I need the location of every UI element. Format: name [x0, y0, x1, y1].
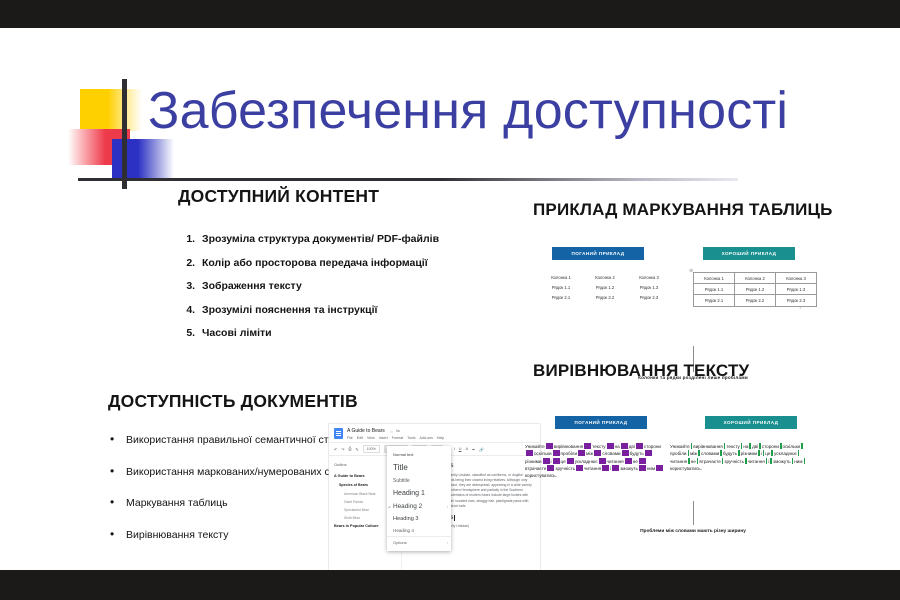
- table-cell: Рядок 1.2: [735, 284, 776, 295]
- caption-leader-line: [693, 501, 694, 525]
- table-header-cell: Колонка 2: [583, 272, 627, 282]
- word-gap-marker: [771, 450, 773, 456]
- gdocs-doc-title: A Guide to Bears: [347, 428, 385, 434]
- word-gap-marker: [698, 450, 700, 456]
- chevron-right-icon: ›: [447, 505, 448, 509]
- alignment-good-badge-wrap: ХОРОШИЙ ПРИКЛАД: [705, 411, 797, 429]
- word-gap-marker: [547, 465, 554, 471]
- word-gap-marker: [697, 458, 699, 464]
- table-cell: Рядок 2.1: [539, 292, 583, 302]
- dropdown-item-heading-1[interactable]: Heading 1: [387, 487, 451, 500]
- menu-item-view[interactable]: View: [367, 436, 375, 440]
- paragraph-bad-justified: Уникайтевирівнюваннятекстунадвісторониос…: [525, 443, 665, 479]
- word-gap-marker: [599, 458, 606, 464]
- table-bad-example: Колонка 1 Колонка 2 Колонка 3 Рядок 1.1 …: [539, 272, 671, 303]
- table-header-cell: Колонка 3: [627, 272, 671, 282]
- table-row: Рядок 2.1 Рядок 2.2 Рядок 2.3: [539, 292, 671, 302]
- slide-canvas: Забезпечення доступності ДОСТУПНИЙ КОНТЕ…: [0, 28, 900, 570]
- undo-icon[interactable]: ↶: [334, 447, 337, 452]
- table-examples-row: ПОГАНИЙ ПРИКЛАД ХОРОШИЙ ПРИКЛАД Колонка …: [533, 242, 853, 314]
- dropdown-item-subtitle[interactable]: Subtitle: [387, 475, 451, 487]
- word-gap-marker: [749, 443, 751, 449]
- gdocs-menubar: File Edit View Insert Format Tools Add-o…: [347, 436, 444, 440]
- text-color-icon[interactable]: A: [466, 447, 469, 451]
- word-gap-marker: [639, 458, 646, 464]
- alignment-bad-badge-wrap: ПОГАНИЙ ПРИКЛАД: [555, 411, 647, 429]
- word-gap-marker: [584, 443, 591, 449]
- table-cell: Рядок 1.1: [539, 282, 583, 292]
- word-gap-marker: [567, 458, 574, 464]
- document-accessibility-heading: ДОСТУПНІСТЬ ДОКУМЕНТІВ: [108, 391, 528, 412]
- menu-item-tools[interactable]: Tools: [407, 436, 415, 440]
- table-row: Колонка 1 Колонка 2 Колонка 3: [694, 273, 817, 284]
- word-gap-marker: [594, 450, 601, 456]
- menu-item-format[interactable]: Format: [392, 436, 403, 440]
- word-gap-marker: [621, 443, 628, 449]
- gdocs-header: A Guide to Bears ☆ lis File Edit View In…: [329, 424, 540, 442]
- table-good-example: Колонка 1 Колонка 2 Колонка 3 Рядок 1.1 …: [693, 272, 817, 307]
- word-gap-marker: [576, 465, 583, 471]
- table-row: Рядок 1.1 Рядок 1.2 Рядок 1.3: [694, 284, 817, 295]
- word-gap-marker: [738, 450, 740, 456]
- table-cell: Рядок 2.2: [583, 292, 627, 302]
- star-icon[interactable]: ☆: [390, 429, 394, 434]
- word-gap-marker: [656, 465, 663, 471]
- table-row: Рядок 1.1 Рядок 1.2 Рядок 1.3: [539, 282, 671, 292]
- status-badge-good: ХОРОШИЙ ПРИКЛАД: [703, 247, 795, 260]
- dropdown-item-normal-text[interactable]: Normal text: [387, 449, 451, 460]
- paragraph-good-aligned: Уникайтевирівнюваннятекстунадвісторониос…: [670, 443, 810, 472]
- word-gap-marker: [804, 458, 806, 464]
- table-header-cell: Колонка 1: [694, 273, 735, 284]
- word-gap-marker: [645, 450, 652, 456]
- table-header-cell: Колонка 1: [539, 272, 583, 282]
- paragraph-style-dropdown[interactable]: Normal text Title Subtitle Heading 1 ✓ H…: [387, 446, 451, 551]
- table-resize-handle-icon: ⌟: [799, 304, 801, 310]
- word-gap-marker: [766, 458, 768, 464]
- list-item: Зображення тексту: [198, 280, 508, 293]
- link-icon[interactable]: 🔗: [479, 447, 484, 452]
- word-gap-marker: [625, 458, 632, 464]
- letterbox-top: [0, 0, 900, 28]
- dropdown-item-label: Options: [393, 540, 407, 545]
- print-icon[interactable]: ⎙: [348, 447, 351, 451]
- word-gap-marker: [636, 443, 643, 449]
- text-alignment-block: ВИРІВНЮВАННЯ ТЕКСТУ ПОГАНИЙ ПРИКЛАД ХОРО…: [533, 361, 853, 534]
- table-header-cell: Колонка 3: [776, 273, 817, 284]
- underline-icon[interactable]: U: [459, 447, 462, 451]
- word-gap-marker: [553, 450, 560, 456]
- word-gap-marker: [578, 450, 585, 456]
- alignment-badges-row: ПОГАНИЙ ПРИКЛАД ХОРОШИЙ ПРИКЛАД: [533, 411, 853, 427]
- word-gap-marker: [602, 465, 609, 471]
- word-gap-marker: [691, 443, 693, 449]
- dropdown-item-heading-3[interactable]: Heading 3: [387, 513, 451, 525]
- list-item: Колір або просторова передача інформації: [198, 257, 508, 270]
- accessible-content-heading: ДОСТУПНИЙ КОНТЕНТ: [178, 186, 508, 207]
- table-cell: Рядок 2.1: [694, 295, 735, 306]
- list-item: Зрозуміла структура документів/ PDF-файл…: [198, 233, 508, 246]
- dropdown-item-options[interactable]: Options ›: [387, 536, 451, 548]
- menu-item-insert[interactable]: Insert: [379, 436, 388, 440]
- italic-icon[interactable]: I: [454, 447, 455, 451]
- table-cell: Рядок 1.1: [694, 284, 735, 295]
- word-gap-marker: [622, 450, 629, 456]
- accessible-content-list: Зрозуміла структура документів/ PDF-файл…: [178, 233, 508, 340]
- status-badge-good: ХОРОШИЙ ПРИКЛАД: [705, 416, 797, 429]
- word-gap-marker: [720, 450, 722, 456]
- table-marking-heading: ПРИКЛАД МАРКУВАННЯ ТАБЛИЦЬ: [533, 200, 853, 220]
- word-gap-marker: [612, 465, 619, 471]
- menu-item-edit[interactable]: Edit: [357, 436, 363, 440]
- alignment-examples-row: Уникайтевирівнюваннятекстунадвісторониос…: [533, 443, 853, 495]
- word-gap-marker: [741, 443, 743, 449]
- word-gap-marker: [639, 465, 646, 471]
- accessible-content-block: ДОСТУПНИЙ КОНТЕНТ Зрозуміла структура до…: [178, 186, 508, 351]
- table-cell: Рядок 2.3: [776, 295, 817, 306]
- check-icon: ✓: [388, 504, 391, 509]
- zoom-select[interactable]: 100%: [363, 445, 380, 453]
- list-item: Часові ліміти: [198, 327, 508, 340]
- status-badge-bad: ПОГАНИЙ ПРИКЛАД: [555, 416, 647, 429]
- chevron-right-icon: ›: [447, 541, 448, 545]
- word-gap-marker: [607, 443, 614, 449]
- word-gap-marker: [780, 443, 782, 449]
- word-gap-marker: [745, 458, 747, 464]
- table-row: Колонка 1 Колонка 2 Колонка 3: [539, 272, 671, 282]
- table-cell: Рядок 1.3: [776, 284, 817, 295]
- menu-item-addons[interactable]: Add-ons: [420, 436, 433, 440]
- alignment-caption-wrap: Проблеми між словами мають різну ширину: [533, 501, 853, 534]
- text-alignment-heading: ВИРІВНЮВАННЯ ТЕКСТУ: [533, 361, 853, 381]
- table-marking-block: ПРИКЛАД МАРКУВАННЯ ТАБЛИЦЬ ПОГАНИЙ ПРИКЛ…: [533, 200, 853, 314]
- table-cell: Рядок 1.3: [627, 282, 671, 292]
- alignment-caption: Проблеми між словами мають різну ширину: [533, 529, 853, 534]
- yellow-square-shape: [80, 89, 142, 131]
- word-gap-marker: [763, 450, 765, 456]
- word-gap-marker: [758, 450, 760, 456]
- word-gap-marker: [546, 443, 553, 449]
- screenshot-stage: Забезпечення доступності ДОСТУПНИЙ КОНТЕ…: [0, 0, 900, 600]
- table-cell: Рядок 2.3: [627, 292, 671, 302]
- menu-item-help[interactable]: Help: [437, 436, 444, 440]
- paint-format-icon[interactable]: ✎: [355, 447, 358, 452]
- word-gap-marker: [798, 450, 800, 456]
- highlight-icon[interactable]: ✒: [472, 447, 475, 452]
- word-gap-marker: [526, 450, 533, 456]
- word-gap-marker: [724, 443, 726, 449]
- dropdown-item-heading-2[interactable]: ✓ Heading 2 ›: [387, 500, 451, 513]
- word-gap-marker: [553, 458, 560, 464]
- word-gap-marker: [770, 458, 772, 464]
- letterbox-bottom: [0, 570, 900, 600]
- bad-example-badge-wrap: ПОГАНИЙ ПРИКЛАД: [552, 242, 644, 260]
- good-example-badge-wrap: ХОРОШИЙ ПРИКЛАД: [703, 242, 795, 260]
- word-gap-marker: [688, 458, 690, 464]
- dropdown-item-title[interactable]: Title: [387, 460, 451, 475]
- google-docs-screenshot: A Guide to Bears ☆ lis File Edit View In…: [329, 424, 540, 570]
- word-gap-marker: [759, 443, 761, 449]
- horizontal-rule: [78, 178, 738, 181]
- menu-item-file[interactable]: File: [347, 436, 353, 440]
- word-gap-marker: [688, 450, 690, 456]
- dropdown-item-heading-4[interactable]: Heading 4: [387, 525, 451, 536]
- table-cell: Рядок 2.2: [735, 295, 776, 306]
- list-item: Зрозумілі пояснення та інструкції: [198, 304, 508, 317]
- document-icon: [334, 428, 343, 439]
- word-gap-marker: [801, 443, 803, 449]
- table-header-cell: Колонка 2: [735, 273, 776, 284]
- table-cell: Рядок 1.2: [583, 282, 627, 292]
- word-gap-marker: [543, 458, 550, 464]
- word-gap-marker: [722, 458, 724, 464]
- status-badge-bad: ПОГАНИЙ ПРИКЛАД: [552, 247, 644, 260]
- word-gap-marker: [792, 458, 794, 464]
- slide-title: Забезпечення доступності: [148, 85, 868, 138]
- dropdown-item-label: Heading 2: [393, 503, 422, 510]
- vertical-rule: [122, 79, 127, 189]
- gdocs-folder-label[interactable]: lis: [396, 429, 399, 433]
- redo-icon[interactable]: ↷: [341, 447, 344, 452]
